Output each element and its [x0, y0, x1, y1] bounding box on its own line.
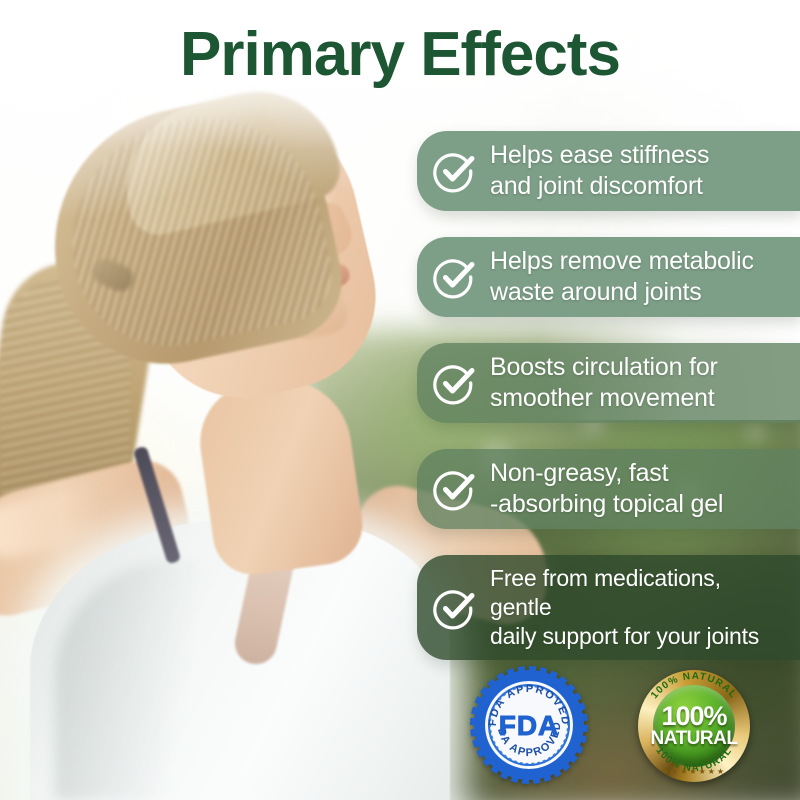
benefit-card-2[interactable]: Helps remove metabolic waste around join…	[417, 237, 800, 317]
circle-check-icon	[432, 466, 478, 512]
svg-text:100% NATURAL: 100% NATURAL	[649, 671, 739, 701]
circle-check-icon	[432, 360, 478, 406]
benefit-label: Free from medications, gentle daily supp…	[490, 564, 786, 651]
page-title: Primary Effects	[0, 22, 800, 88]
benefits-list: Helps ease stiffness and joint discomfor…	[417, 131, 800, 686]
benefit-label: Non-greasy, fast -absorbing topical gel	[490, 458, 723, 520]
fda-word: FDA	[499, 710, 560, 742]
100-percent-natural-badge: 100% NATURAL 100% NATURAL 100% NATURAL ★…	[638, 670, 750, 782]
benefit-label: Helps remove metabolic waste around join…	[490, 246, 754, 308]
benefit-label: Boosts circulation for smoother movement	[490, 352, 718, 414]
benefit-label: Helps ease stiffness and joint discomfor…	[490, 140, 709, 202]
benefit-card-3[interactable]: Boosts circulation for smoother movement	[417, 343, 800, 423]
fda-approved-badge: FDA APPROVED FDA APPROVED FDA	[474, 670, 584, 780]
benefit-card-5[interactable]: Free from medications, gentle daily supp…	[417, 555, 800, 660]
fda-center: FDA	[474, 670, 584, 780]
natural-arc-text: 100% NATURAL 100% NATURAL	[638, 670, 750, 782]
circle-check-icon	[432, 585, 478, 631]
benefit-card-1[interactable]: Helps ease stiffness and joint discomfor…	[417, 131, 800, 211]
circle-check-icon	[432, 254, 478, 300]
circle-check-icon	[432, 148, 478, 194]
primary-effects-poster: Primary Effects Helps ease stiffness and…	[0, 0, 800, 800]
benefit-card-4[interactable]: Non-greasy, fast -absorbing topical gel	[417, 449, 800, 529]
natural-arc-top: 100% NATURAL	[649, 671, 739, 701]
natural-stars: ★★★★★★★	[638, 767, 750, 776]
